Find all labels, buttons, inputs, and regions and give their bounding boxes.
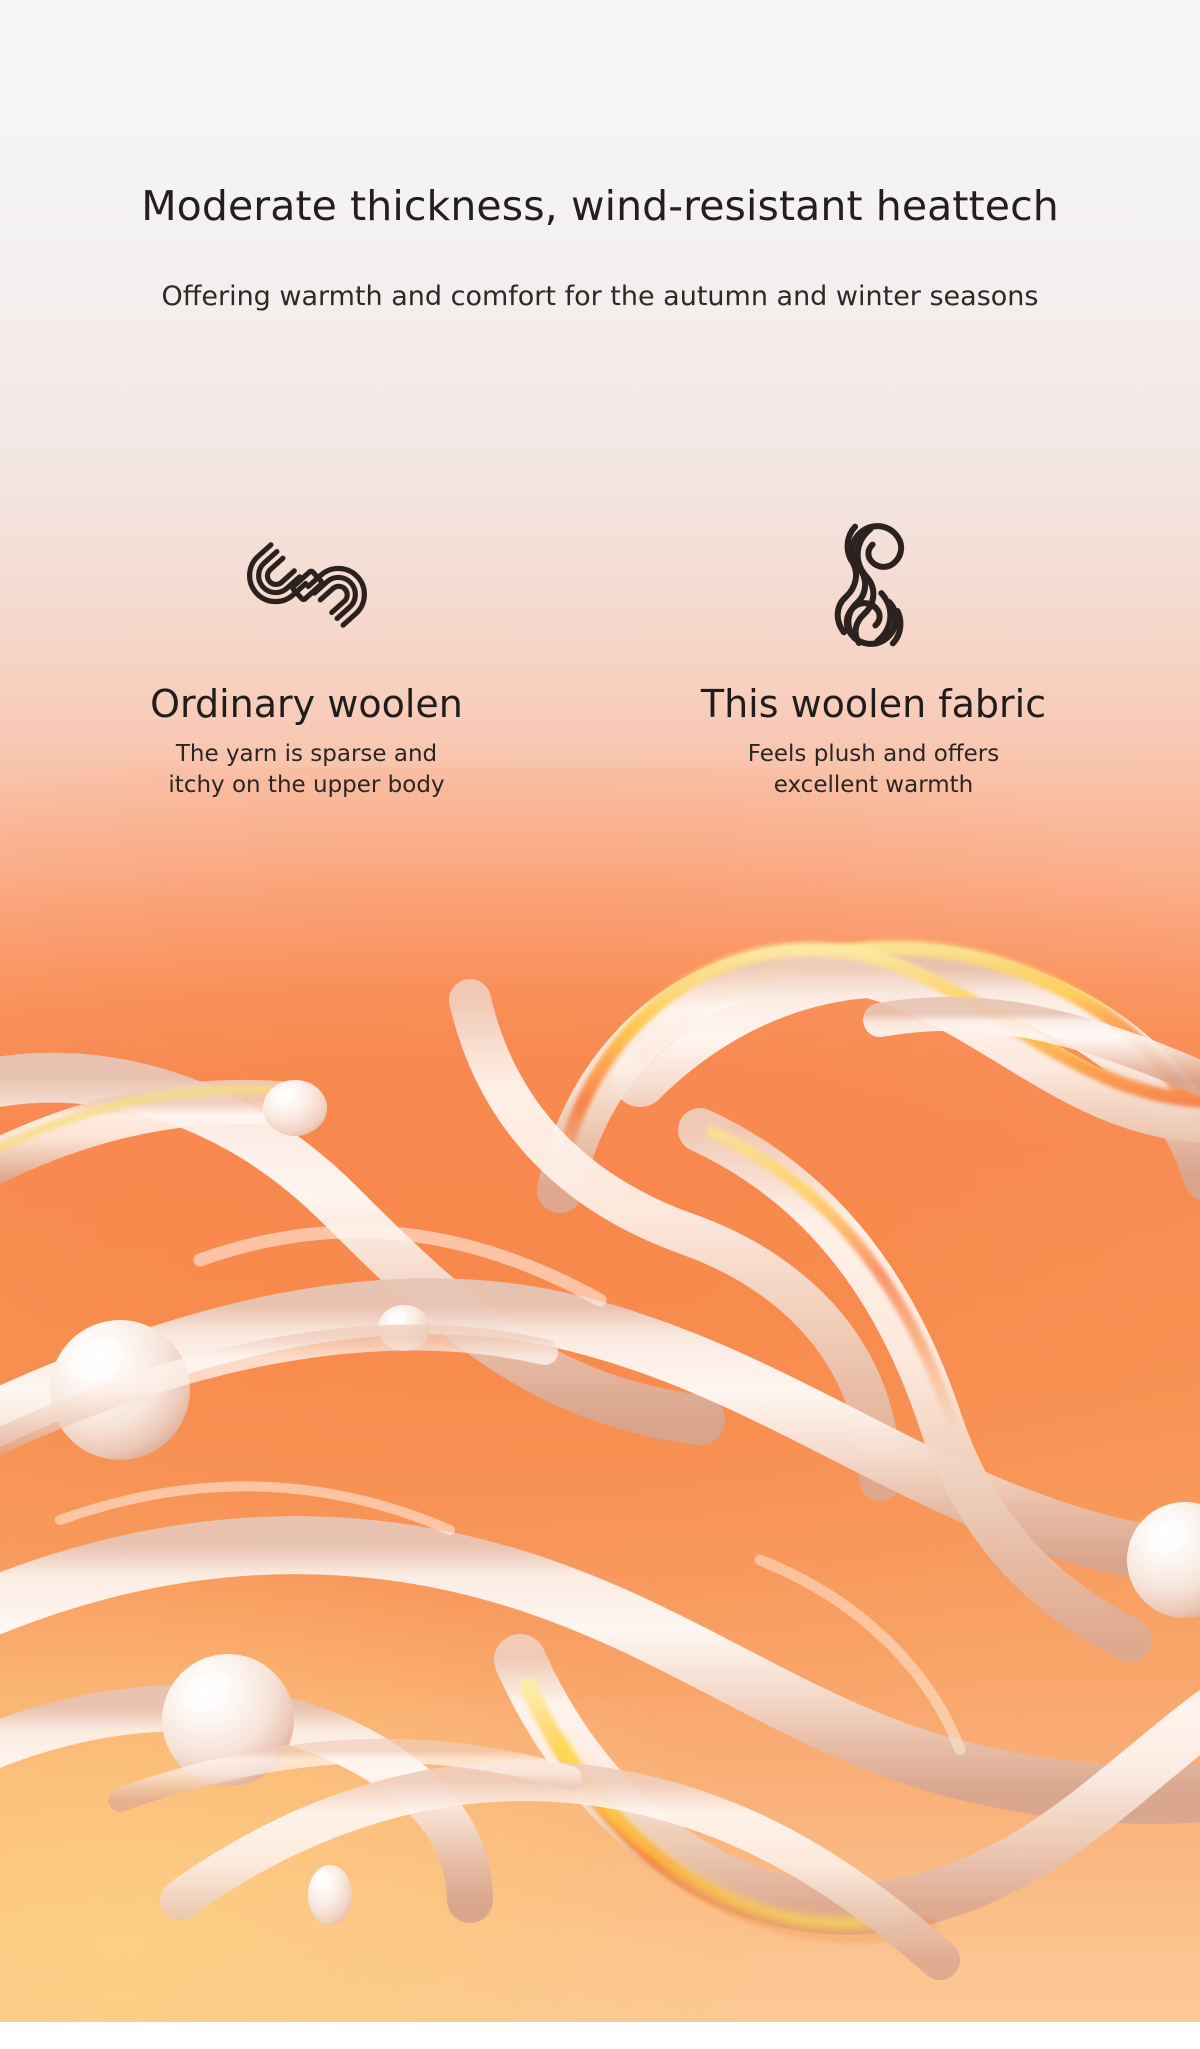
coral-bloom-overlay [0, 768, 1200, 1698]
bottom-white-strip [0, 2022, 1200, 2049]
feature-ordinary-woolen: Ordinary woolen The yarn is sparse and i… [0, 520, 585, 801]
feature-comparison: Ordinary woolen The yarn is sparse and i… [0, 520, 1200, 801]
coiled-rope-hank-icon [28, 520, 585, 650]
dense-spiral-yarn-icon [585, 520, 1162, 650]
promo-banner: Moderate thickness, wind-resistant heatt… [0, 0, 1200, 2049]
feature-description: The yarn is sparse and itchy on the uppe… [157, 726, 457, 801]
feature-description: Feels plush and offers excellent warmth [694, 726, 1054, 801]
feature-title: Ordinary woolen [28, 650, 585, 726]
amber-bloom-overlay [0, 1577, 744, 2022]
page-title: Moderate thickness, wind-resistant heatt… [0, 0, 1200, 231]
feature-title: This woolen fabric [585, 650, 1162, 726]
headline-block: Moderate thickness, wind-resistant heatt… [0, 0, 1200, 314]
feature-this-woolen-fabric: This woolen fabric Feels plush and offer… [585, 520, 1200, 801]
page-subtitle: Offering warmth and comfort for the autu… [0, 231, 1200, 314]
